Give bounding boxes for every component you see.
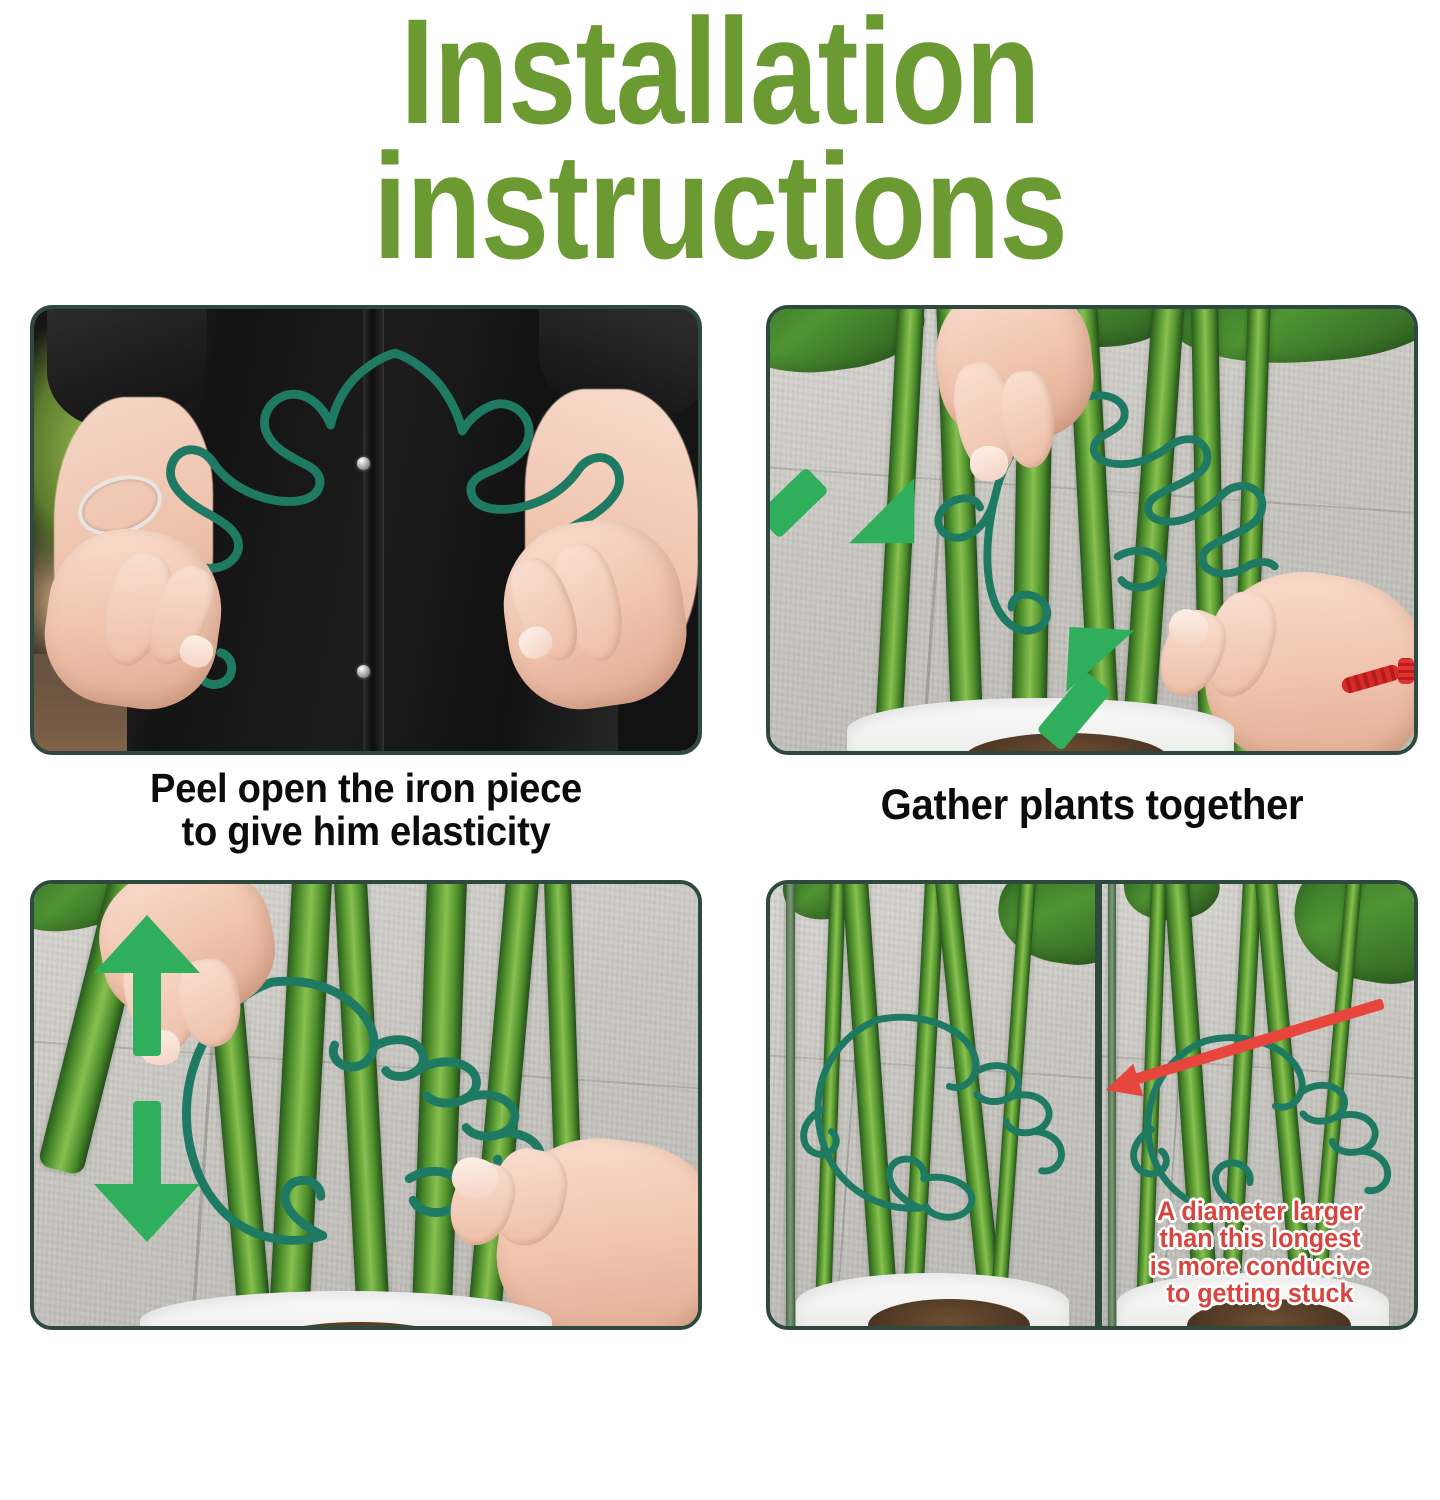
- step-4-photo-right: A diameter larger than this longest is m…: [1098, 884, 1414, 1326]
- step-1-caption-line-1: Peel open the iron piece: [54, 767, 679, 810]
- step-1-caption-line-2: to give him elasticity: [54, 810, 679, 853]
- step-4-card: A diameter larger than this longest is m…: [766, 880, 1418, 1330]
- step-1-caption: Peel open the iron piece to give him ela…: [54, 767, 679, 854]
- split-divider: [1095, 884, 1102, 1326]
- arrow-up-icon: [94, 915, 200, 1056]
- step-3-photo: [30, 880, 702, 1330]
- step-2-photo: [766, 305, 1418, 755]
- step-2-caption: Gather plants together: [789, 783, 1395, 829]
- steps-grid: Peel open the iron piece to give him ela…: [0, 300, 1440, 1500]
- page-title-line-1: Installation: [130, 4, 1311, 139]
- arrow-down-icon: [94, 1101, 200, 1242]
- step-4-overlay-note: A diameter larger than this longest is m…: [1121, 1198, 1400, 1308]
- installation-instructions-page: Installation instructions: [0, 0, 1440, 1500]
- page-title-line-2: instructions: [130, 139, 1311, 274]
- overlay-note-line-4: to getting stuck: [1121, 1280, 1400, 1308]
- step-2-caption-line-1: Gather plants together: [789, 783, 1395, 829]
- wire-leaf-clip-icon: [770, 884, 1095, 1326]
- overlay-note-line-3: is more conducive: [1121, 1253, 1400, 1281]
- page-title: Installation instructions: [0, 4, 1440, 274]
- arrow-up-right-icon: [1028, 618, 1221, 751]
- arrow-down-right-icon: [802, 459, 995, 592]
- step-4-photo-left: [770, 884, 1095, 1326]
- step-4-photo: A diameter larger than this longest is m…: [766, 880, 1418, 1330]
- measure-arrow-icon: [1111, 1017, 1401, 1158]
- step-3-card: Adjust the appropriate height and angle …: [30, 880, 702, 1330]
- step-2-card: Gather plants together: [766, 305, 1418, 755]
- step-1-photo: [30, 305, 702, 755]
- overlay-note-line-2: than this longest: [1121, 1225, 1400, 1253]
- step-1-card: Peel open the iron piece to give him ela…: [30, 305, 702, 755]
- overlay-note-line-1: A diameter larger: [1121, 1198, 1400, 1226]
